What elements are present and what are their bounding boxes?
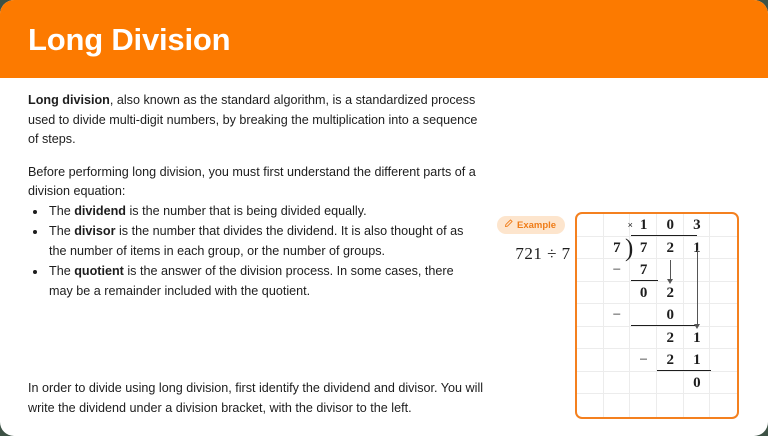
- dividend-digit-1: 7: [630, 237, 657, 260]
- example-expression: 721 ÷ 7: [507, 244, 579, 264]
- list-item: The dividend is the number that is being…: [47, 202, 480, 222]
- article-text: Long division, also known as the standar…: [28, 91, 480, 314]
- definition-list: The dividend is the number that is being…: [28, 202, 480, 302]
- list-item: The quotient is the answer of the divisi…: [47, 262, 480, 301]
- example-badge: Example: [497, 216, 565, 234]
- step3-bar: [657, 370, 711, 371]
- page-body: Long division, also known as the standar…: [0, 78, 768, 436]
- step1-subtract-digit: 7: [630, 259, 657, 282]
- quotient-digit-3: 3: [684, 214, 711, 237]
- bringdown-arrow-1-head: [667, 279, 673, 284]
- step2-bar: [631, 325, 697, 326]
- step1-bar: [631, 280, 658, 281]
- list-item: The divisor is the number that divides t…: [47, 222, 480, 261]
- step2-result-digit-2: 1: [684, 327, 711, 350]
- step2-result-digit-1: 2: [657, 327, 684, 350]
- page-card: Long Division Long division, also known …: [0, 0, 768, 436]
- division-digits: × 1 0 3 7 7 2 1 − 7 0 2 − 0 2: [577, 214, 737, 417]
- page-title: Long Division: [28, 24, 230, 55]
- bullet-lead: The: [49, 204, 74, 218]
- intro-paragraph: Long division, also known as the standar…: [28, 91, 480, 150]
- quotient-digit-2: 0: [657, 214, 684, 237]
- dividend-digit-2: 2: [657, 237, 684, 260]
- division-bracket-icon: ): [625, 236, 633, 261]
- order-paragraph: In order to divide using long division, …: [28, 378, 498, 418]
- long-division-diagram: × 1 0 3 7 7 2 1 − 7 0 2 − 0 2: [575, 212, 739, 419]
- example-badge-label: Example: [517, 220, 556, 231]
- step1-result-digit-1: 0: [630, 282, 657, 305]
- remainder-digit: 0: [684, 372, 711, 395]
- page-header: Long Division: [0, 0, 768, 78]
- step3-subtract-digit-2: 1: [684, 349, 711, 372]
- bullet-term: dividend: [74, 204, 126, 218]
- bullet-lead: The: [49, 264, 74, 278]
- step3-subtract-digit-1: 2: [657, 349, 684, 372]
- bullet-lead: The: [49, 224, 74, 238]
- minus-sign-3: −: [630, 349, 657, 372]
- step1-result-digit-2: 2: [657, 282, 684, 305]
- intro-bold-term: Long division: [28, 93, 110, 107]
- bringdown-arrow-2-line: [697, 250, 698, 325]
- quotient-digit-1: 1: [630, 214, 657, 237]
- bullet-term: divisor: [74, 224, 115, 238]
- quotient-vinculum: [631, 235, 697, 236]
- before-paragraph: Before performing long division, you mus…: [28, 163, 480, 202]
- pencil-icon: [504, 219, 513, 231]
- minus-sign-1: −: [604, 259, 631, 282]
- bullet-term: quotient: [74, 264, 124, 278]
- bringdown-arrow-1-line: [670, 260, 671, 280]
- bullet-rest: is the number that is being divided equa…: [126, 204, 367, 218]
- step2-subtract-digit: 0: [657, 304, 684, 327]
- minus-sign-2: −: [604, 304, 631, 327]
- bringdown-arrow-2-head: [694, 324, 700, 329]
